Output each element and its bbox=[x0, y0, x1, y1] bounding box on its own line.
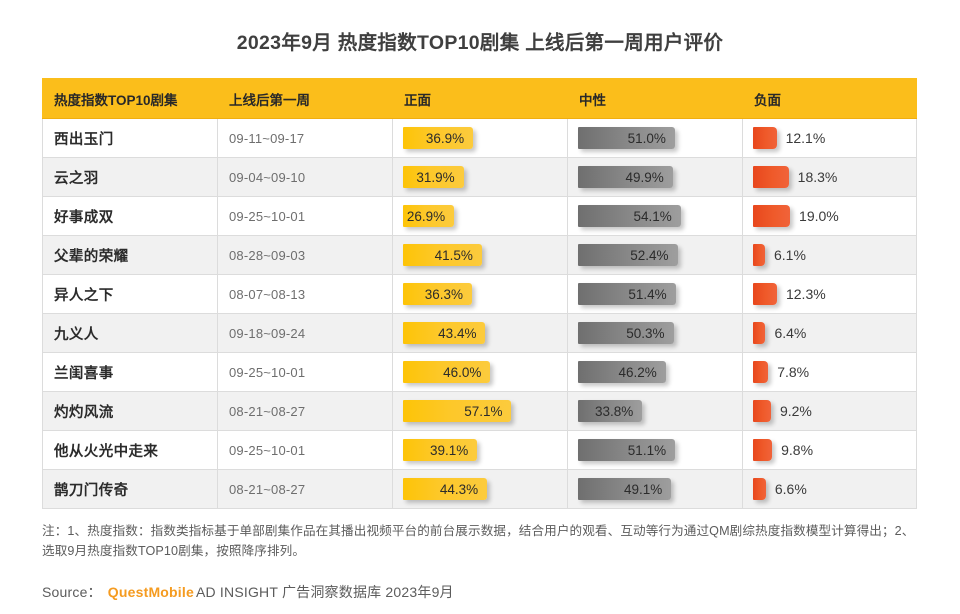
negative-bar bbox=[753, 127, 777, 149]
neutral-value: 54.1% bbox=[634, 209, 681, 224]
bar-wrapper: 43.4% bbox=[403, 322, 567, 344]
neutral-bar: 54.1% bbox=[578, 205, 681, 227]
cell-negative: 9.2% bbox=[743, 392, 917, 431]
cell-drama-name: 云之羽 bbox=[43, 158, 218, 197]
negative-bar bbox=[753, 322, 765, 344]
bar-wrapper: 12.3% bbox=[753, 283, 916, 305]
bar-wrapper: 57.1% bbox=[403, 400, 567, 422]
bar-wrapper: 36.9% bbox=[403, 127, 567, 149]
negative-value: 12.1% bbox=[786, 130, 826, 146]
cell-first-week: 08-21~08-27 bbox=[218, 392, 393, 431]
neutral-value: 51.1% bbox=[628, 443, 675, 458]
cell-first-week: 09-18~09-24 bbox=[218, 314, 393, 353]
bar-wrapper: 54.1% bbox=[578, 205, 742, 227]
negative-value: 6.6% bbox=[775, 481, 807, 497]
cell-negative: 18.3% bbox=[743, 158, 917, 197]
positive-bar: 46.0% bbox=[403, 361, 490, 383]
neutral-bar: 51.0% bbox=[578, 127, 675, 149]
cell-negative: 6.4% bbox=[743, 314, 917, 353]
source-brand: QuestMobile bbox=[108, 584, 194, 600]
table-row: 父辈的荣耀08-28~09-0341.5%52.4%6.1% bbox=[43, 236, 917, 275]
negative-bar bbox=[753, 283, 777, 305]
cell-negative: 12.3% bbox=[743, 275, 917, 314]
footnote: 注：1、热度指数：指数类指标基于单部剧集作品在其播出视频平台的前台展示数据，结合… bbox=[42, 521, 922, 561]
cell-neutral: 33.8% bbox=[568, 392, 743, 431]
bar-wrapper: 51.0% bbox=[578, 127, 742, 149]
bar-wrapper: 26.9% bbox=[403, 205, 567, 227]
bar-wrapper: 9.2% bbox=[753, 400, 916, 422]
bar-wrapper: 44.3% bbox=[403, 478, 567, 500]
bar-wrapper: 39.1% bbox=[403, 439, 567, 461]
source-suffix: AD INSIGHT 广告洞察数据库 2023年9月 bbox=[196, 584, 454, 600]
cell-first-week: 08-28~09-03 bbox=[218, 236, 393, 275]
neutral-value: 51.4% bbox=[628, 287, 675, 302]
positive-value: 57.1% bbox=[464, 404, 511, 419]
cell-negative: 6.6% bbox=[743, 470, 917, 509]
negative-value: 19.0% bbox=[799, 208, 839, 224]
table-row: 他从火光中走来09-25~10-0139.1%51.1%9.8% bbox=[43, 431, 917, 470]
cell-drama-name: 异人之下 bbox=[43, 275, 218, 314]
neutral-bar: 52.4% bbox=[578, 244, 678, 266]
cell-positive: 26.9% bbox=[393, 197, 568, 236]
cell-positive: 36.3% bbox=[393, 275, 568, 314]
positive-bar: 36.3% bbox=[403, 283, 472, 305]
negative-value: 12.3% bbox=[786, 286, 826, 302]
bar-wrapper: 9.8% bbox=[753, 439, 916, 461]
table-row: 兰闺喜事09-25~10-0146.0%46.2%7.8% bbox=[43, 353, 917, 392]
positive-value: 36.3% bbox=[425, 287, 472, 302]
neutral-bar: 49.9% bbox=[578, 166, 673, 188]
cell-neutral: 50.3% bbox=[568, 314, 743, 353]
positive-value: 39.1% bbox=[430, 443, 477, 458]
cell-negative: 6.1% bbox=[743, 236, 917, 275]
cell-drama-name: 鹊刀门传奇 bbox=[43, 470, 218, 509]
bar-wrapper: 19.0% bbox=[753, 205, 916, 227]
neutral-value: 46.2% bbox=[618, 365, 665, 380]
column-header-positive: 正面 bbox=[393, 79, 568, 119]
slide-page: 2023年9月 热度指数TOP10剧集 上线后第一周用户评价 热度指数TOP10… bbox=[0, 0, 960, 614]
cell-neutral: 54.1% bbox=[568, 197, 743, 236]
table-header-row: 热度指数TOP10剧集 上线后第一周 正面 中性 负面 bbox=[43, 79, 917, 119]
table-row: 鹊刀门传奇08-21~08-2744.3%49.1%6.6% bbox=[43, 470, 917, 509]
negative-bar bbox=[753, 478, 766, 500]
bar-wrapper: 12.1% bbox=[753, 127, 916, 149]
table-body: 西出玉门09-11~09-1736.9%51.0%12.1%云之羽09-04~0… bbox=[43, 119, 917, 509]
neutral-value: 49.9% bbox=[626, 170, 673, 185]
cell-negative: 19.0% bbox=[743, 197, 917, 236]
cell-drama-name: 兰闺喜事 bbox=[43, 353, 218, 392]
positive-bar: 41.5% bbox=[403, 244, 482, 266]
cell-positive: 39.1% bbox=[393, 431, 568, 470]
negative-value: 7.8% bbox=[777, 364, 809, 380]
cell-neutral: 51.1% bbox=[568, 431, 743, 470]
negative-bar bbox=[753, 205, 790, 227]
negative-bar bbox=[753, 166, 789, 188]
negative-value: 18.3% bbox=[798, 169, 838, 185]
cell-first-week: 08-21~08-27 bbox=[218, 470, 393, 509]
negative-value: 6.4% bbox=[774, 325, 806, 341]
neutral-bar: 51.4% bbox=[578, 283, 676, 305]
cell-positive: 43.4% bbox=[393, 314, 568, 353]
table-header: 热度指数TOP10剧集 上线后第一周 正面 中性 负面 bbox=[43, 79, 917, 119]
bar-wrapper: 41.5% bbox=[403, 244, 567, 266]
positive-value: 41.5% bbox=[435, 248, 482, 263]
positive-bar: 57.1% bbox=[403, 400, 511, 422]
bar-wrapper: 49.9% bbox=[578, 166, 742, 188]
positive-value: 44.3% bbox=[440, 482, 487, 497]
neutral-value: 33.8% bbox=[595, 404, 642, 419]
cell-neutral: 52.4% bbox=[568, 236, 743, 275]
column-header-negative: 负面 bbox=[743, 79, 917, 119]
negative-bar bbox=[753, 439, 772, 461]
cell-drama-name: 父辈的荣耀 bbox=[43, 236, 218, 275]
bar-wrapper: 52.4% bbox=[578, 244, 742, 266]
column-header-week: 上线后第一周 bbox=[218, 79, 393, 119]
neutral-value: 50.3% bbox=[626, 326, 673, 341]
cell-first-week: 09-25~10-01 bbox=[218, 431, 393, 470]
user-evaluation-table: 热度指数TOP10剧集 上线后第一周 正面 中性 负面 西出玉门09-11~09… bbox=[42, 78, 917, 509]
cell-neutral: 49.1% bbox=[568, 470, 743, 509]
cell-negative: 7.8% bbox=[743, 353, 917, 392]
positive-bar: 39.1% bbox=[403, 439, 477, 461]
source-prefix: Source： bbox=[42, 584, 102, 600]
cell-drama-name: 西出玉门 bbox=[43, 119, 218, 158]
cell-negative: 9.8% bbox=[743, 431, 917, 470]
positive-bar: 43.4% bbox=[403, 322, 485, 344]
positive-value: 26.9% bbox=[407, 209, 454, 224]
cell-first-week: 09-11~09-17 bbox=[218, 119, 393, 158]
cell-neutral: 49.9% bbox=[568, 158, 743, 197]
source-line: Source：QuestMobileAD INSIGHT 广告洞察数据库 202… bbox=[42, 582, 454, 602]
bar-wrapper: 6.6% bbox=[753, 478, 916, 500]
bar-wrapper: 6.4% bbox=[753, 322, 916, 344]
table-row: 好事成双09-25~10-0126.9%54.1%19.0% bbox=[43, 197, 917, 236]
cell-positive: 31.9% bbox=[393, 158, 568, 197]
neutral-bar: 50.3% bbox=[578, 322, 674, 344]
page-title: 2023年9月 热度指数TOP10剧集 上线后第一周用户评价 bbox=[0, 26, 960, 55]
cell-positive: 57.1% bbox=[393, 392, 568, 431]
neutral-value: 49.1% bbox=[624, 482, 671, 497]
bar-wrapper: 51.4% bbox=[578, 283, 742, 305]
negative-bar bbox=[753, 361, 768, 383]
negative-bar bbox=[753, 244, 765, 266]
positive-bar: 26.9% bbox=[403, 205, 454, 227]
cell-positive: 41.5% bbox=[393, 236, 568, 275]
neutral-value: 52.4% bbox=[630, 248, 677, 263]
bar-wrapper: 36.3% bbox=[403, 283, 567, 305]
bar-wrapper: 51.1% bbox=[578, 439, 742, 461]
bar-wrapper: 46.0% bbox=[403, 361, 567, 383]
cell-neutral: 51.4% bbox=[568, 275, 743, 314]
neutral-bar: 33.8% bbox=[578, 400, 642, 422]
cell-neutral: 51.0% bbox=[568, 119, 743, 158]
bar-wrapper: 18.3% bbox=[753, 166, 916, 188]
neutral-value: 51.0% bbox=[628, 131, 675, 146]
negative-value: 6.1% bbox=[774, 247, 806, 263]
bar-wrapper: 6.1% bbox=[753, 244, 916, 266]
cell-first-week: 09-25~10-01 bbox=[218, 353, 393, 392]
neutral-bar: 51.1% bbox=[578, 439, 675, 461]
neutral-bar: 46.2% bbox=[578, 361, 666, 383]
cell-positive: 36.9% bbox=[393, 119, 568, 158]
bar-wrapper: 50.3% bbox=[578, 322, 742, 344]
cell-neutral: 46.2% bbox=[568, 353, 743, 392]
column-header-neutral: 中性 bbox=[568, 79, 743, 119]
positive-bar: 44.3% bbox=[403, 478, 487, 500]
bar-wrapper: 49.1% bbox=[578, 478, 742, 500]
positive-bar: 31.9% bbox=[403, 166, 464, 188]
bar-wrapper: 46.2% bbox=[578, 361, 742, 383]
bar-wrapper: 7.8% bbox=[753, 361, 916, 383]
positive-value: 46.0% bbox=[443, 365, 490, 380]
table-row: 云之羽09-04~09-1031.9%49.9%18.3% bbox=[43, 158, 917, 197]
negative-bar bbox=[753, 400, 771, 422]
cell-first-week: 09-25~10-01 bbox=[218, 197, 393, 236]
cell-drama-name: 好事成双 bbox=[43, 197, 218, 236]
cell-drama-name: 他从火光中走来 bbox=[43, 431, 218, 470]
cell-first-week: 08-07~08-13 bbox=[218, 275, 393, 314]
table-row: 九义人09-18~09-2443.4%50.3%6.4% bbox=[43, 314, 917, 353]
table-row: 西出玉门09-11~09-1736.9%51.0%12.1% bbox=[43, 119, 917, 158]
cell-drama-name: 九义人 bbox=[43, 314, 218, 353]
column-header-drama: 热度指数TOP10剧集 bbox=[43, 79, 218, 119]
positive-value: 36.9% bbox=[426, 131, 473, 146]
bar-wrapper: 33.8% bbox=[578, 400, 742, 422]
neutral-bar: 49.1% bbox=[578, 478, 671, 500]
cell-first-week: 09-04~09-10 bbox=[218, 158, 393, 197]
positive-bar: 36.9% bbox=[403, 127, 473, 149]
positive-value: 43.4% bbox=[438, 326, 485, 341]
cell-negative: 12.1% bbox=[743, 119, 917, 158]
cell-positive: 46.0% bbox=[393, 353, 568, 392]
cell-drama-name: 灼灼风流 bbox=[43, 392, 218, 431]
negative-value: 9.8% bbox=[781, 442, 813, 458]
negative-value: 9.2% bbox=[780, 403, 812, 419]
table-row: 异人之下08-07~08-1336.3%51.4%12.3% bbox=[43, 275, 917, 314]
bar-wrapper: 31.9% bbox=[403, 166, 567, 188]
cell-positive: 44.3% bbox=[393, 470, 568, 509]
positive-value: 31.9% bbox=[416, 170, 463, 185]
table-row: 灼灼风流08-21~08-2757.1%33.8%9.2% bbox=[43, 392, 917, 431]
